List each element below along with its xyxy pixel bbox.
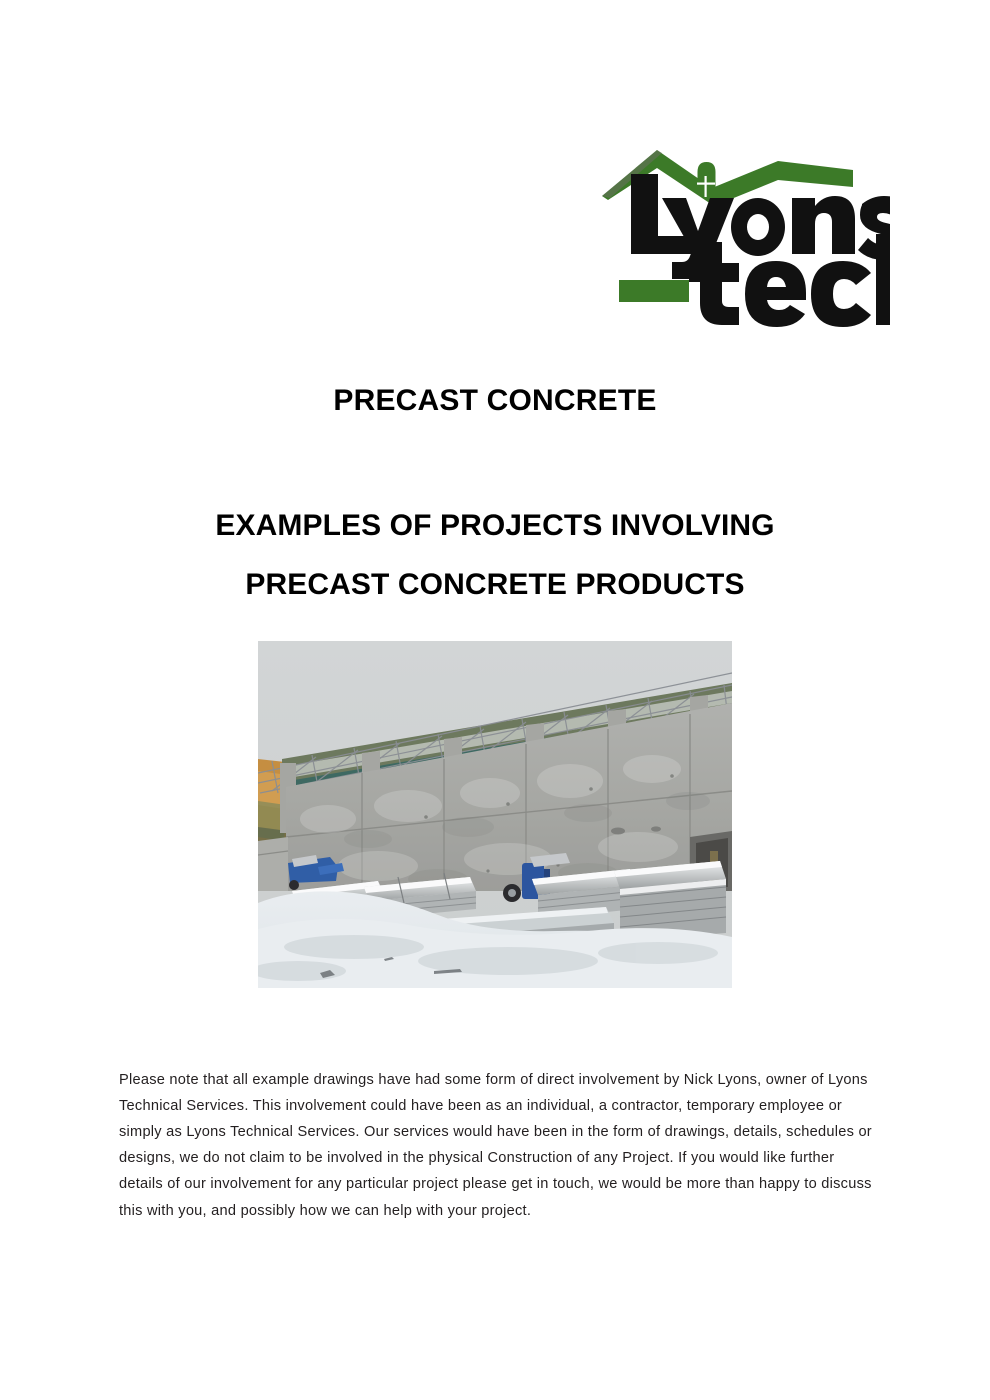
page-subtitle-line-1: EXAMPLES OF PROJECTS INVOLVING — [0, 496, 990, 555]
page-subtitle-line-2: PRECAST CONCRETE PRODUCTS — [0, 555, 990, 614]
company-logo — [600, 132, 890, 327]
project-photo — [258, 641, 732, 988]
green-dash-icon — [619, 280, 689, 302]
window-icon — [697, 162, 716, 197]
page-title: PRECAST CONCRETE — [0, 382, 990, 420]
document-page: PRECAST CONCRETE EXAMPLES OF PROJECTS IN… — [0, 0, 990, 1400]
page-subtitle: EXAMPLES OF PROJECTS INVOLVING PRECAST C… — [0, 496, 990, 614]
disclaimer-paragraph: Please note that all example drawings ha… — [119, 1067, 873, 1224]
project-photo-image — [258, 641, 732, 988]
page-title-text: PRECAST CONCRETE — [333, 384, 656, 417]
